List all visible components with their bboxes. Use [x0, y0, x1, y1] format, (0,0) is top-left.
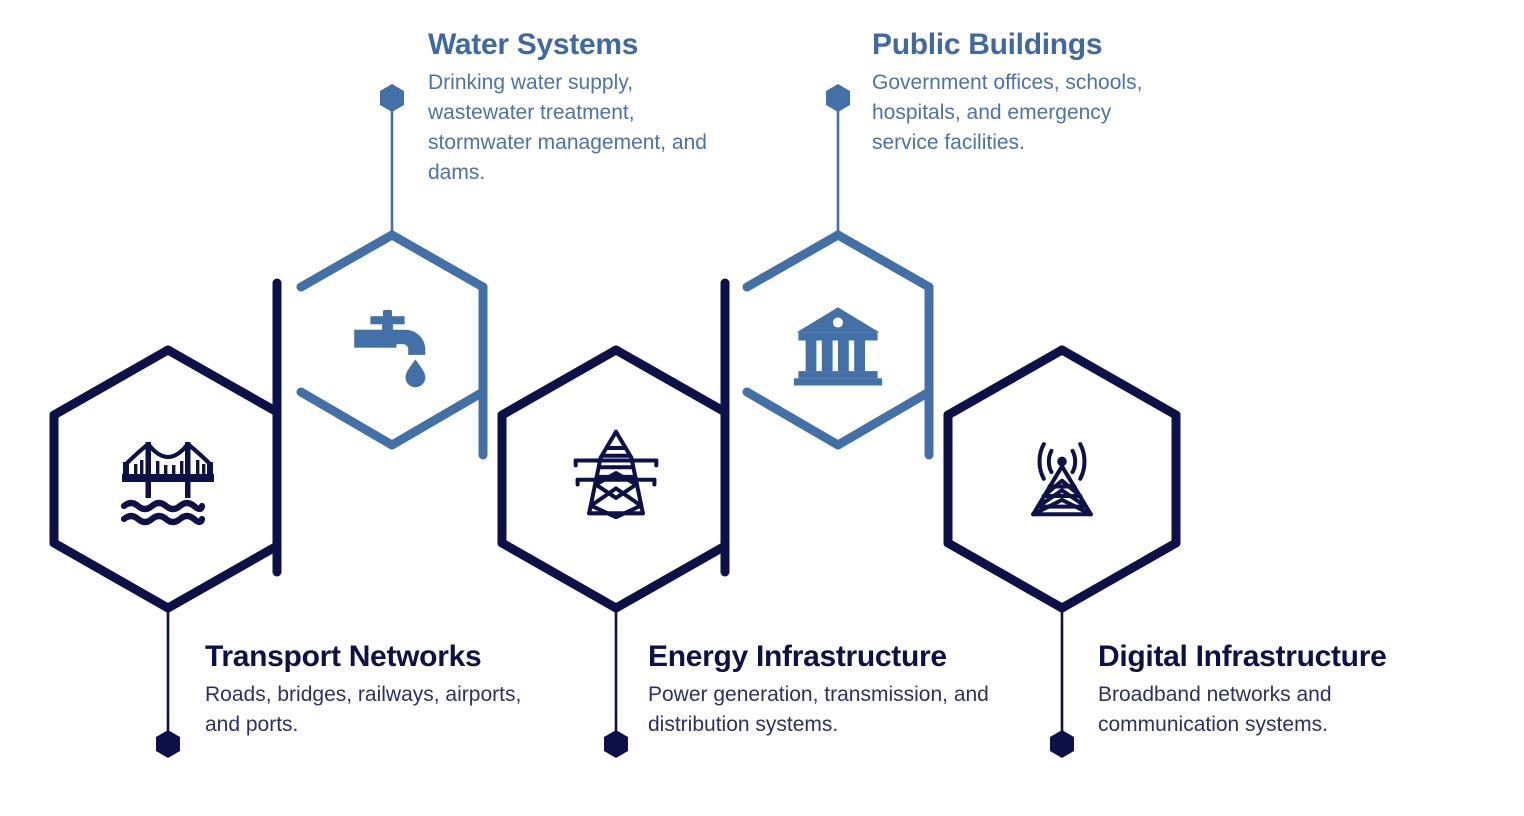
- connector-water-systems: [380, 84, 404, 235]
- dark-hexagon-group: [54, 283, 1176, 608]
- hexagon-energy-infrastructure: [502, 283, 725, 608]
- connector-transport-networks: [156, 608, 180, 758]
- category-block-energy-infrastructure: Energy Infrastructure Power generation, …: [648, 640, 998, 740]
- category-title-water-systems: Water Systems: [428, 28, 728, 62]
- water-tap-icon: [354, 310, 425, 387]
- category-title-transport-networks: Transport Networks: [205, 640, 535, 674]
- connector-digital-infrastructure: [1050, 608, 1074, 758]
- category-block-digital-infrastructure: Digital Infrastructure Broadband network…: [1098, 640, 1438, 740]
- infographic-canvas: Water Systems Drinking water supply, was…: [0, 0, 1524, 816]
- bridge-icon: [122, 442, 214, 522]
- category-description-transport-networks: Roads, bridges, railways, airports, and …: [205, 680, 535, 740]
- category-title-digital-infrastructure: Digital Infrastructure: [1098, 640, 1438, 674]
- hexagon-transport-networks: [54, 283, 277, 608]
- connector-energy-infrastructure: [604, 608, 628, 758]
- category-title-public-buildings: Public Buildings: [872, 28, 1162, 62]
- category-description-digital-infrastructure: Broadband networks and communication sys…: [1098, 680, 1438, 740]
- category-description-water-systems: Drinking water supply, wastewater treatm…: [428, 68, 728, 188]
- category-block-public-buildings: Public Buildings Government offices, sch…: [872, 28, 1162, 158]
- category-description-energy-infrastructure: Power generation, transmission, and dist…: [648, 680, 998, 740]
- category-block-water-systems: Water Systems Drinking water supply, was…: [428, 28, 728, 188]
- category-block-transport-networks: Transport Networks Roads, bridges, railw…: [205, 640, 535, 740]
- category-description-public-buildings: Government offices, schools, hospitals, …: [872, 68, 1162, 158]
- broadcast-tower-icon: [1033, 444, 1091, 514]
- government-building-icon: [794, 307, 882, 385]
- connector-public-buildings: [826, 84, 850, 235]
- category-title-energy-infrastructure: Energy Infrastructure: [648, 640, 998, 674]
- power-pylon-icon: [576, 432, 657, 517]
